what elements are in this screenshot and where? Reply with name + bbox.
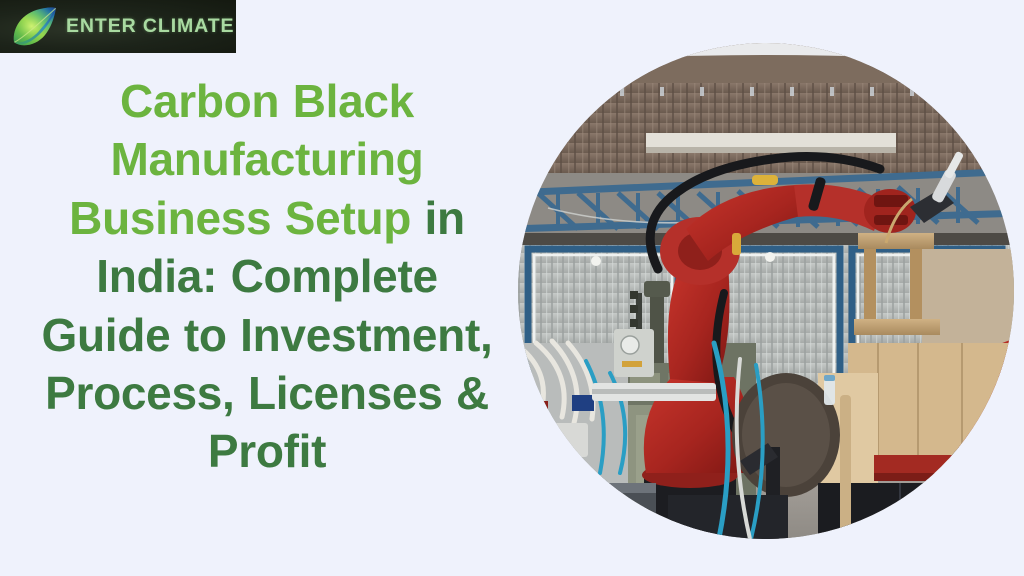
leaf-icon [8, 4, 60, 50]
title-segment-light: Carbon Black Manufacturing Business Setu… [69, 75, 424, 244]
brand-logo[interactable]: ENTER CLIMATE [0, 0, 236, 53]
page-title: Carbon Black Manufacturing Business Setu… [28, 72, 506, 481]
factory-robot-arm-photo [518, 43, 1014, 539]
promo-banner: ENTER CLIMATE Carbon Black Manufacturing… [0, 0, 1024, 576]
brand-name: ENTER CLIMATE [66, 15, 234, 38]
factory-scene-illustration [518, 43, 1014, 539]
